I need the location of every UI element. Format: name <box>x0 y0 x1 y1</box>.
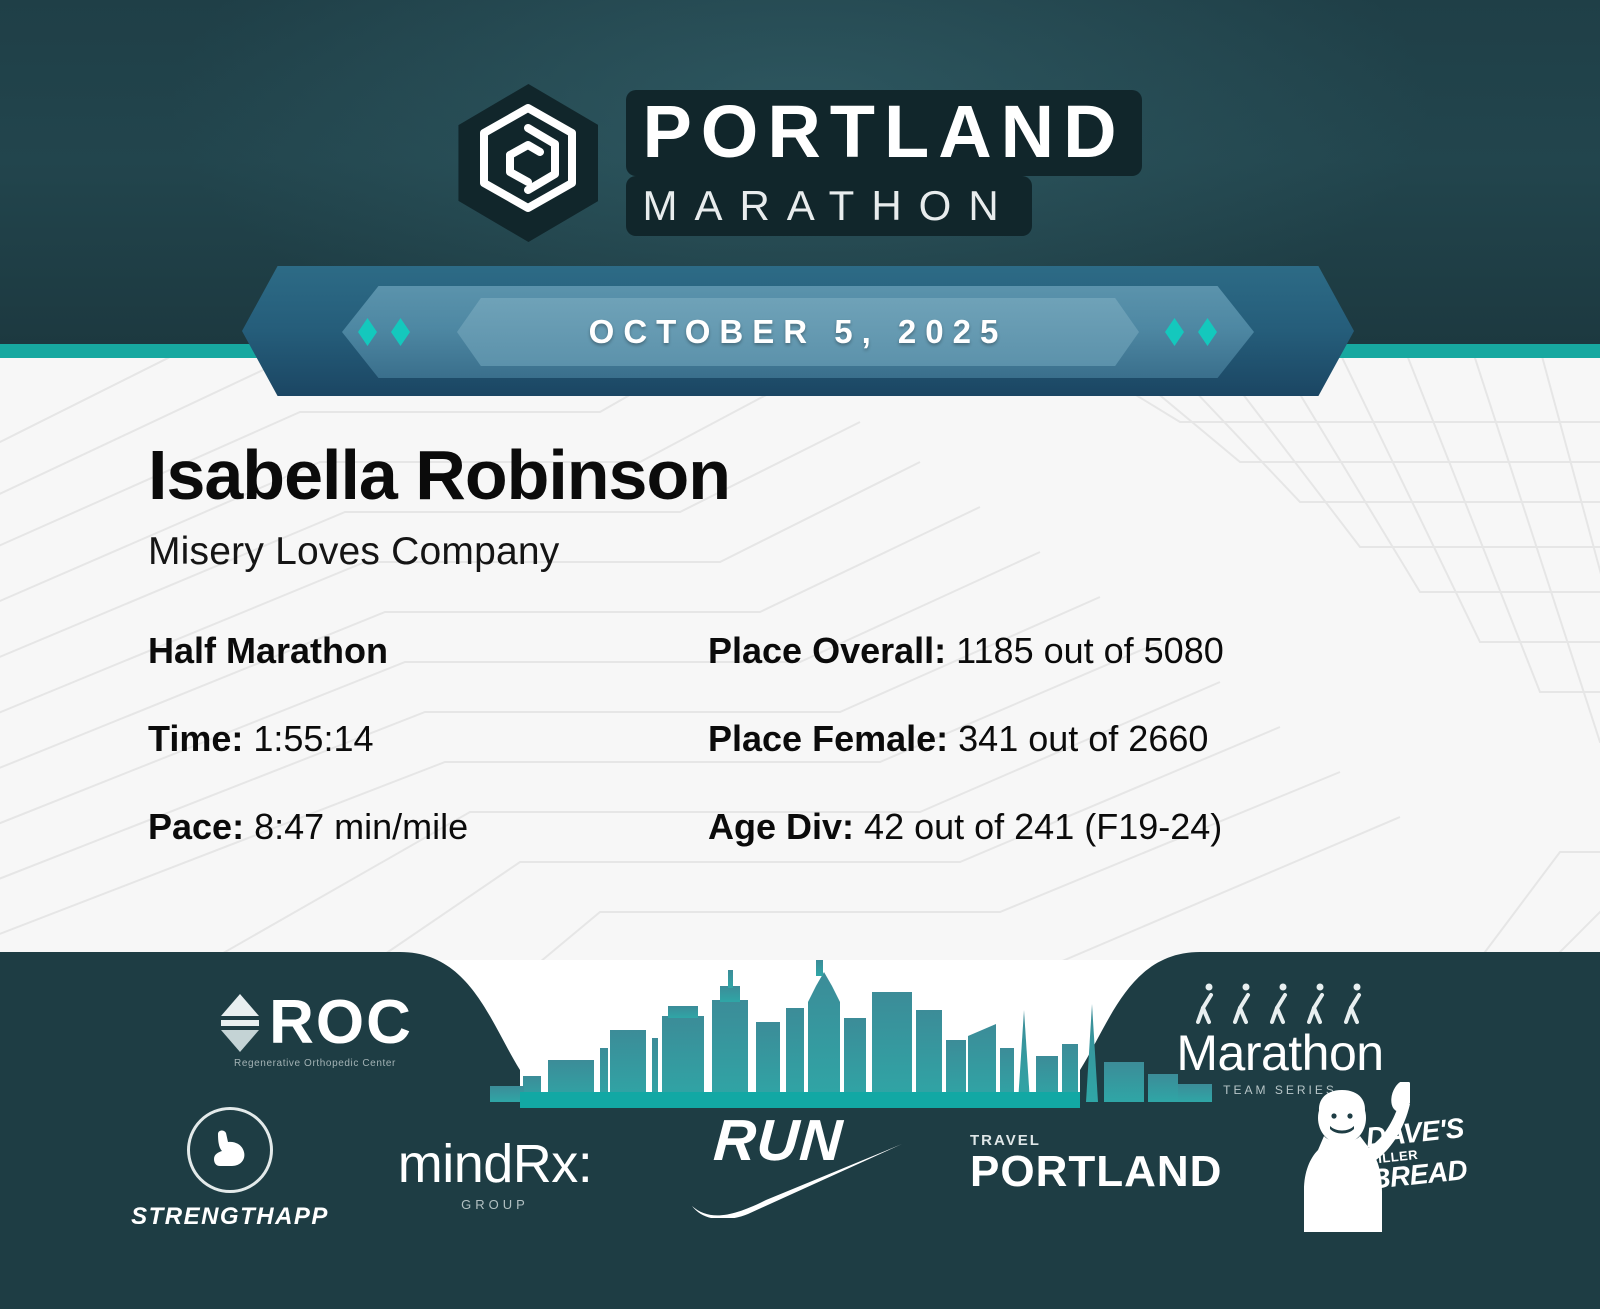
diamond-logo-icon <box>217 992 263 1054</box>
stat-value-time: 1:55:14 <box>253 718 373 759</box>
sponsor-logo-nike-run[interactable]: RUN <box>690 1112 930 1223</box>
stat-label-time: Time: <box>148 718 243 759</box>
sponsor-logo-strengthapp[interactable]: STRENGTHAPP <box>80 1107 380 1231</box>
stats-column-right: Place Overall: 1185 out of 5080 Place Fe… <box>708 630 1448 848</box>
stat-label-age-div: Age Div: <box>708 806 854 847</box>
wordmark-line-2-wrap: MARATHON <box>626 176 1031 236</box>
runner-name: Isabella Robinson <box>148 440 1448 510</box>
event-logo: PORTLAND MARATHON <box>0 78 1600 248</box>
stat-value-pace: 8:47 min/mile <box>254 806 468 847</box>
sponsor-logo-daves-killer-bread[interactable]: DAVE'S KILLER BREAD <box>1290 1082 1520 1232</box>
sponsor-logos: ROC Regenerative Orthopedic Center <box>0 952 1600 1309</box>
diamond-icon <box>1198 318 1217 346</box>
sponsor-logo-mindrx[interactable]: mindRx: GROUP <box>370 1137 620 1212</box>
sponsor-nike-run-name: RUN <box>712 1112 932 1170</box>
sponsor-logo-travel-portland[interactable]: TRAVEL PORTLAND <box>970 1132 1230 1195</box>
stat-value-place-overall: 1185 out of 5080 <box>956 630 1224 671</box>
stat-row-event: Half Marathon <box>148 630 708 672</box>
wordmark-marathon: MARATHON <box>642 182 1015 230</box>
event-wordmark: PORTLAND MARATHON <box>626 90 1141 236</box>
event-date-ribbon: OCTOBER 5, 2025 <box>242 266 1354 396</box>
wordmark-portland: PORTLAND <box>642 94 1125 169</box>
sponsor-travel-portland-line2: PORTLAND <box>970 1149 1230 1195</box>
diamond-icon <box>358 318 377 346</box>
sponsor-logo-roc[interactable]: ROC Regenerative Orthopedic Center <box>200 992 430 1069</box>
stat-row-pace: Pace: 8:47 min/mile <box>148 806 708 848</box>
ribbon-core-shape: OCTOBER 5, 2025 <box>457 298 1139 366</box>
stats-column-left: Half Marathon Time: 1:55:14 Pace: 8:47 m… <box>148 630 708 848</box>
team-name: Misery Loves Company <box>148 530 1448 574</box>
stat-row-place-female: Place Female: 341 out of 2660 <box>708 718 1448 760</box>
running-figures-icon <box>1150 980 1410 1026</box>
sponsor-mindrx-tagline: GROUP <box>370 1197 620 1212</box>
diamond-icon <box>1165 318 1184 346</box>
results-body: Isabella Robinson Misery Loves Company H… <box>0 352 1600 960</box>
flexed-bicep-icon <box>187 1107 273 1193</box>
sponsor-daves-line3: BREAD <box>1369 1156 1469 1193</box>
event-date-text: OCTOBER 5, 2025 <box>589 313 1008 351</box>
ribbon-diamonds-left <box>358 318 410 346</box>
sponsor-roc-tagline: Regenerative Orthopedic Center <box>200 1058 430 1069</box>
stats-grid: Half Marathon Time: 1:55:14 Pace: 8:47 m… <box>148 630 1448 848</box>
stat-label-place-female: Place Female: <box>708 718 948 759</box>
wordmark-line-1-wrap: PORTLAND <box>626 90 1141 175</box>
stat-value-age-div: 42 out of 241 (F19-24) <box>864 806 1222 847</box>
stat-value-place-female: 341 out of 2660 <box>958 718 1208 759</box>
stat-row-place-overall: Place Overall: 1185 out of 5080 <box>708 630 1448 672</box>
sponsor-roc-name: ROC <box>269 992 413 1054</box>
stat-label-pace: Pace: <box>148 806 244 847</box>
sponsor-footer: ROC Regenerative Orthopedic Center <box>0 952 1600 1309</box>
sponsor-logo-marathon-team-series[interactable]: Marathon TEAM SERIES <box>1150 980 1410 1097</box>
result-content: Isabella Robinson Misery Loves Company H… <box>148 440 1448 848</box>
ribbon-diamonds-right <box>1165 318 1217 346</box>
event-distance-label: Half Marathon <box>148 630 388 671</box>
stat-row-age-div: Age Div: 42 out of 241 (F19-24) <box>708 806 1448 848</box>
portland-marathon-hex-icon <box>458 84 598 242</box>
stat-row-time: Time: 1:55:14 <box>148 718 708 760</box>
sponsor-strengthapp-name: STRENGTHAPP <box>80 1203 380 1231</box>
stat-label-place-overall: Place Overall: <box>708 630 946 671</box>
sponsor-mindrx-name: mindRx: <box>370 1137 620 1191</box>
sponsor-marathon-name: Marathon <box>1150 1028 1410 1078</box>
diamond-icon <box>391 318 410 346</box>
